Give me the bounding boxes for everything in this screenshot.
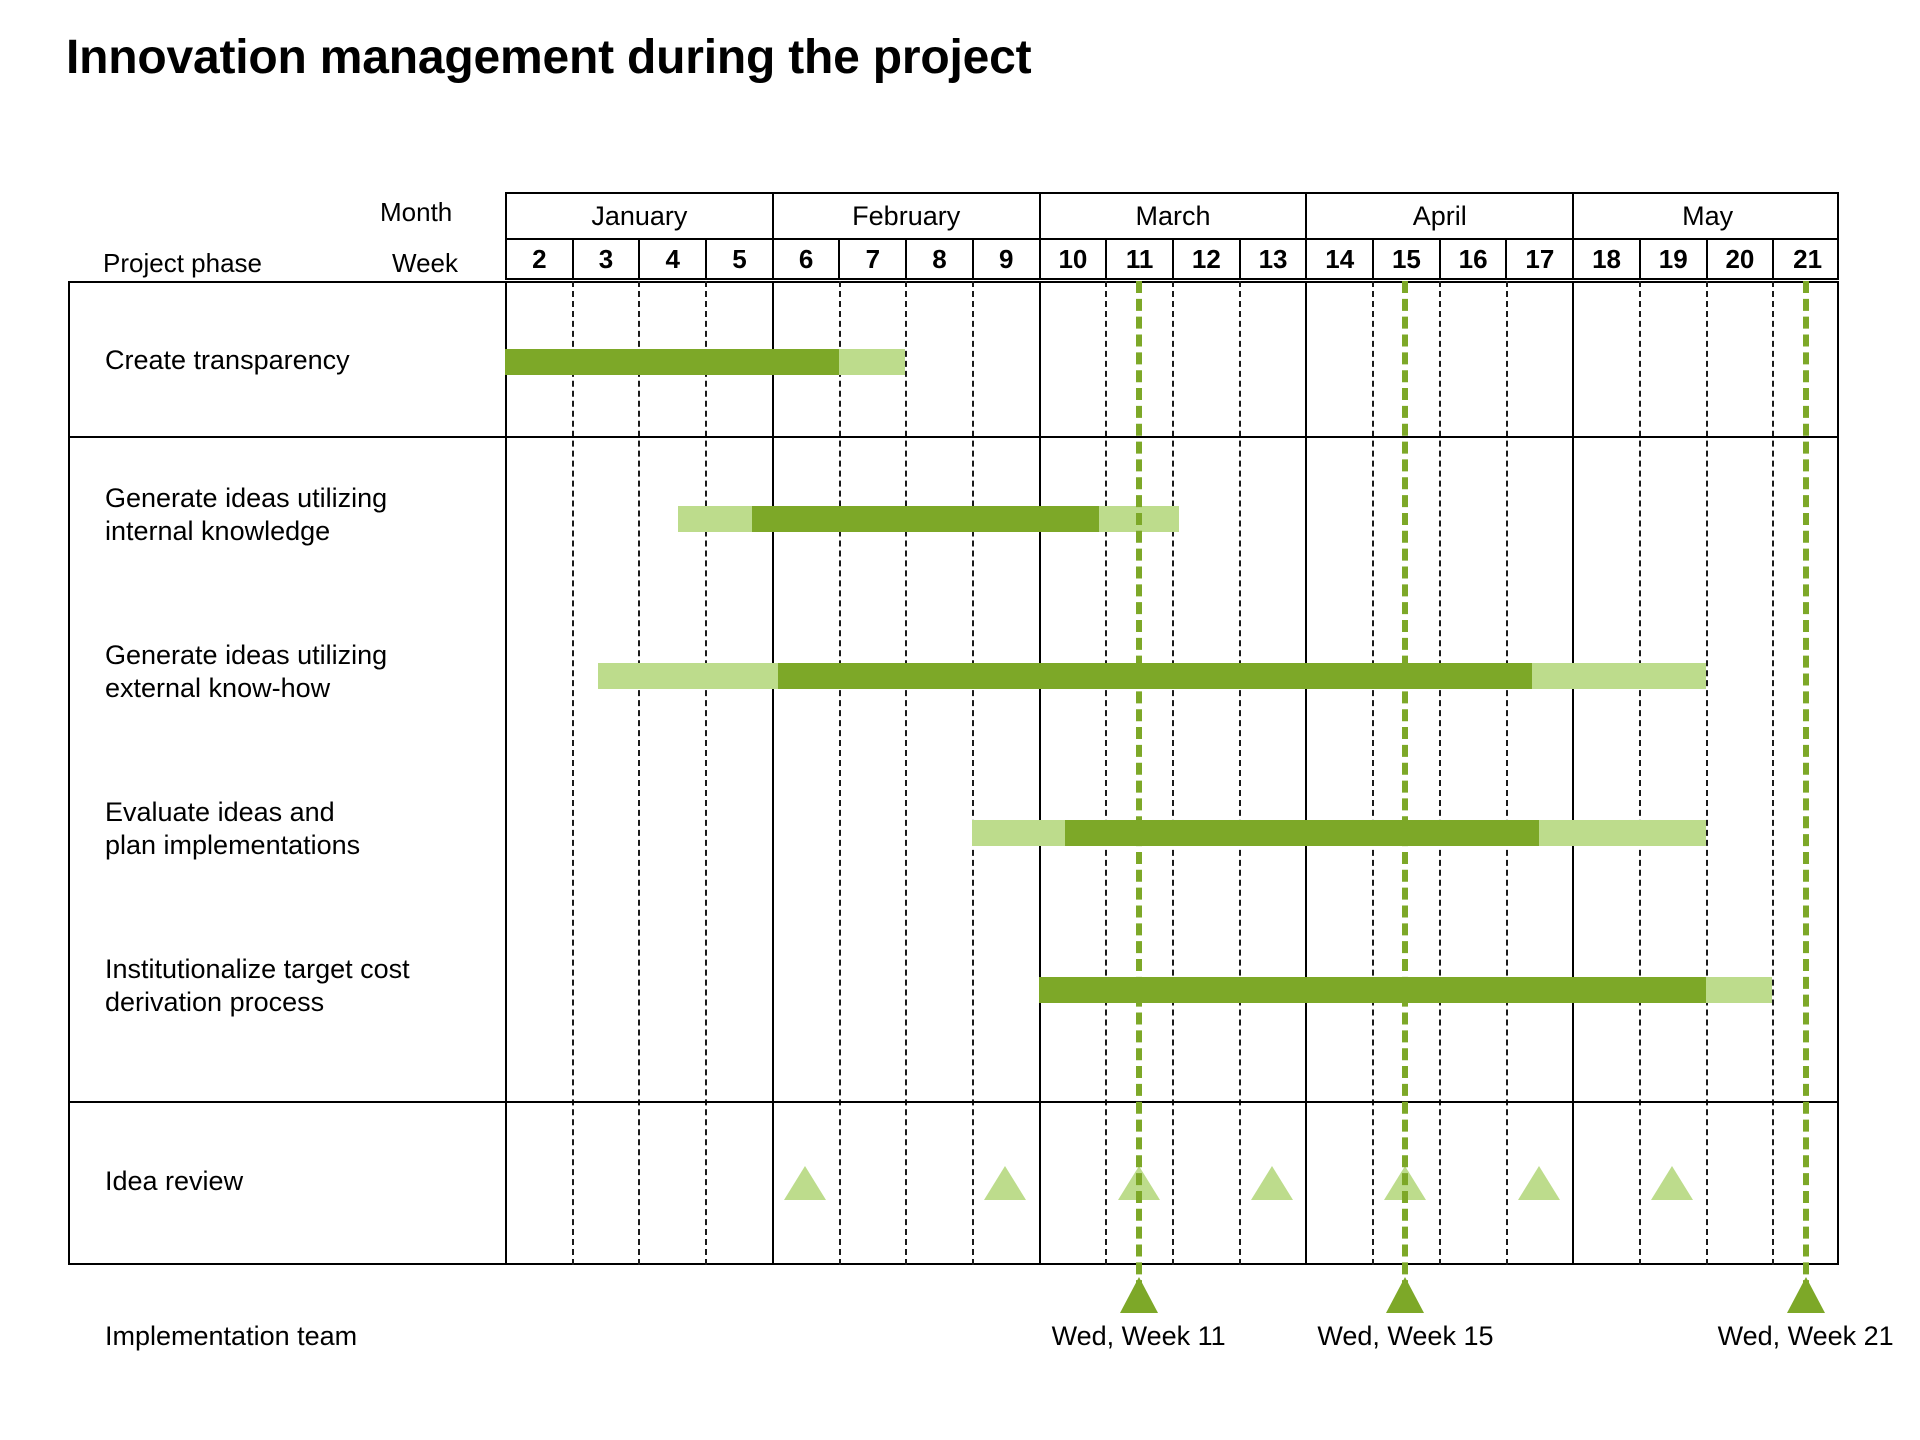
gantt-bar-light (598, 663, 778, 689)
milestone-line (1136, 281, 1142, 1310)
row-group-separator (68, 436, 1839, 438)
week-header-cell: 14 (1307, 240, 1374, 278)
week-header-cell: 4 (640, 240, 707, 278)
grid-week-separator (1506, 281, 1508, 1265)
grid-week-separator (1172, 281, 1174, 1265)
row-group-separator (68, 1101, 1839, 1103)
milestone-line (1803, 281, 1809, 1310)
grid-week-separator (1105, 281, 1107, 1265)
idea-review-triangle-icon (1651, 1166, 1693, 1200)
month-header-cell: February (774, 194, 1041, 238)
page-title: Innovation management during the project (66, 30, 1031, 85)
grid-week-separator (1239, 281, 1241, 1265)
week-header-cell: 19 (1641, 240, 1708, 278)
week-header-cell: 16 (1441, 240, 1508, 278)
month-header-cell: January (507, 194, 774, 238)
gantt-bar-light (678, 506, 751, 532)
gantt-bar-light (1706, 977, 1773, 1003)
grid-month-separator (1039, 281, 1041, 1265)
task-label: Generate ideas utilizing internal knowle… (105, 482, 387, 548)
gantt-bar-dark (505, 349, 839, 375)
gantt-bar-light (1532, 663, 1705, 689)
milestone-label: Wed, Week 21 (1718, 1321, 1894, 1352)
idea-review-label: Idea review (105, 1165, 243, 1198)
week-header-cell: 9 (974, 240, 1041, 278)
grid-left-boundary (505, 281, 507, 1265)
idea-review-triangle-icon (984, 1166, 1026, 1200)
grid-week-separator (905, 281, 907, 1265)
grid-week-separator (1706, 281, 1708, 1265)
gantt-chart: Innovation management during the project… (0, 0, 1920, 1440)
task-label: Create transparency (105, 344, 350, 377)
task-label: Evaluate ideas and plan implementations (105, 796, 360, 862)
grid-week-separator (839, 281, 841, 1265)
week-header-cell: 10 (1041, 240, 1108, 278)
idea-review-triangle-icon (1518, 1166, 1560, 1200)
month-header-label: Month (380, 197, 452, 228)
week-header-cell: 6 (774, 240, 841, 278)
week-header-cell: 18 (1574, 240, 1641, 278)
week-header-row: 23456789101112131415161718192021 (505, 240, 1839, 280)
grid-week-separator (638, 281, 640, 1265)
gantt-bar-light (839, 349, 906, 375)
grid-week-separator (572, 281, 574, 1265)
week-header-cell: 13 (1241, 240, 1308, 278)
week-header-cell: 17 (1508, 240, 1575, 278)
week-header-cell: 8 (907, 240, 974, 278)
task-label: Institutionalize target cost derivation … (105, 953, 410, 1019)
week-header-cell: 20 (1708, 240, 1775, 278)
task-label: Generate ideas utilizing external know-h… (105, 639, 387, 705)
gantt-bar-light (1539, 820, 1706, 846)
week-header-cell: 11 (1107, 240, 1174, 278)
milestone-arrow-icon (1120, 1277, 1158, 1313)
grid-month-separator (1572, 281, 1574, 1265)
grid-week-separator (1639, 281, 1641, 1265)
grid-week-separator (1372, 281, 1374, 1265)
milestone-label: Wed, Week 11 (1052, 1321, 1226, 1352)
milestone-label: Wed, Week 15 (1317, 1321, 1493, 1352)
grid-week-separator (705, 281, 707, 1265)
milestone-line (1402, 281, 1408, 1310)
milestone-arrow-icon (1787, 1277, 1825, 1313)
gantt-bar-dark (778, 663, 1532, 689)
week-header-cell: 3 (574, 240, 641, 278)
week-header-cell: 21 (1774, 240, 1841, 278)
grid-week-separator (1439, 281, 1441, 1265)
week-header-cell: 15 (1374, 240, 1441, 278)
month-header-cell: April (1307, 194, 1574, 238)
grid-week-separator (972, 281, 974, 1265)
project-phase-header-label: Project phase (103, 248, 262, 279)
month-header-row: JanuaryFebruaryMarchAprilMay (505, 192, 1839, 240)
week-header-label: Week (392, 248, 458, 279)
week-header-cell: 2 (507, 240, 574, 278)
gantt-bar-dark (752, 506, 1099, 532)
milestone-arrow-icon (1386, 1277, 1424, 1313)
grid-month-separator (1305, 281, 1307, 1265)
month-header-cell: March (1041, 194, 1308, 238)
gantt-bar-light (972, 820, 1065, 846)
week-header-cell: 12 (1174, 240, 1241, 278)
week-header-cell: 5 (707, 240, 774, 278)
grid-week-separator (1772, 281, 1774, 1265)
implementation-team-label: Implementation team (105, 1321, 357, 1352)
grid-month-separator (772, 281, 774, 1265)
idea-review-triangle-icon (1251, 1166, 1293, 1200)
idea-review-triangle-icon (784, 1166, 826, 1200)
week-header-cell: 7 (841, 240, 908, 278)
month-header-cell: May (1574, 194, 1841, 238)
